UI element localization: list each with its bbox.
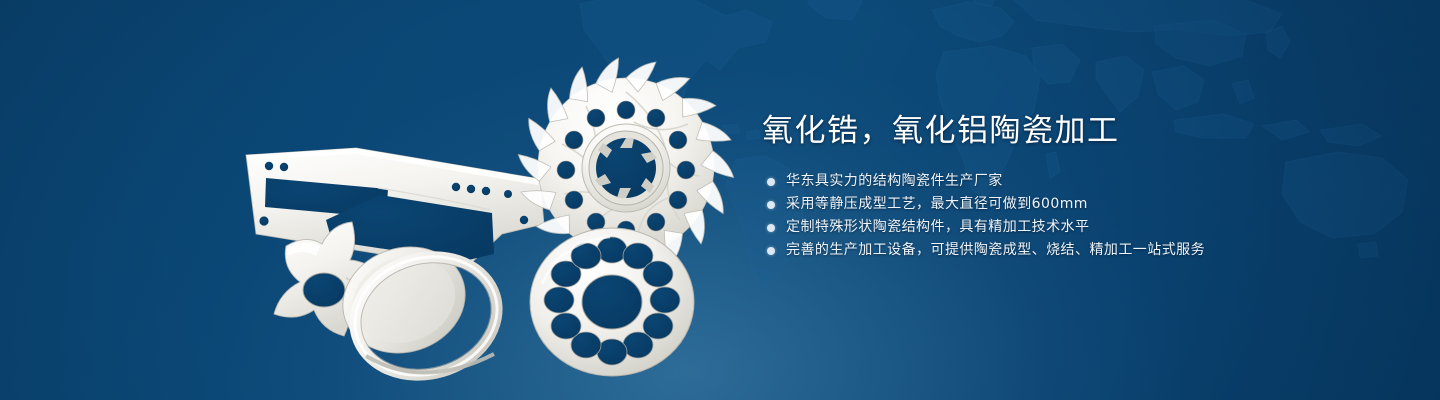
page-title: 氧化锆，氧化铝陶瓷加工 (762, 112, 1382, 150)
list-item-label: 采用等静压成型工艺，最大直径可做到600mm (786, 193, 1088, 216)
bullet-dot-icon (767, 247, 775, 255)
ceramic-perforated-disc-part (530, 228, 694, 376)
bullet-dot-icon (767, 201, 775, 209)
list-item: 华东具实力的结构陶瓷件生产厂家 (762, 170, 1382, 193)
feature-list: 华东具实力的结构陶瓷件生产厂家 采用等静压成型工艺，最大直径可做到600mm 定… (762, 170, 1382, 262)
list-item: 完善的生产加工设备，可提供陶瓷成型、烧结、精加工一站式服务 (762, 239, 1382, 262)
ceramic-products-image (228, 38, 708, 383)
list-item: 采用等静压成型工艺，最大直径可做到600mm (762, 193, 1382, 216)
banner-copy: 氧化锆，氧化铝陶瓷加工 华东具实力的结构陶瓷件生产厂家 采用等静压成型工艺，最大… (762, 112, 1382, 262)
list-item: 定制特殊形状陶瓷结构件，具有精加工技术水平 (762, 216, 1382, 239)
hero-banner: 氧化锆，氧化铝陶瓷加工 华东具实力的结构陶瓷件生产厂家 采用等静压成型工艺，最大… (0, 0, 1440, 400)
list-item-label: 完善的生产加工设备，可提供陶瓷成型、烧结、精加工一站式服务 (786, 239, 1205, 262)
list-item-label: 华东具实力的结构陶瓷件生产厂家 (786, 170, 1003, 193)
bullet-dot-icon (767, 224, 775, 232)
list-item-label: 定制特殊形状陶瓷结构件，具有精加工技术水平 (786, 216, 1089, 239)
bullet-dot-icon (767, 178, 775, 186)
